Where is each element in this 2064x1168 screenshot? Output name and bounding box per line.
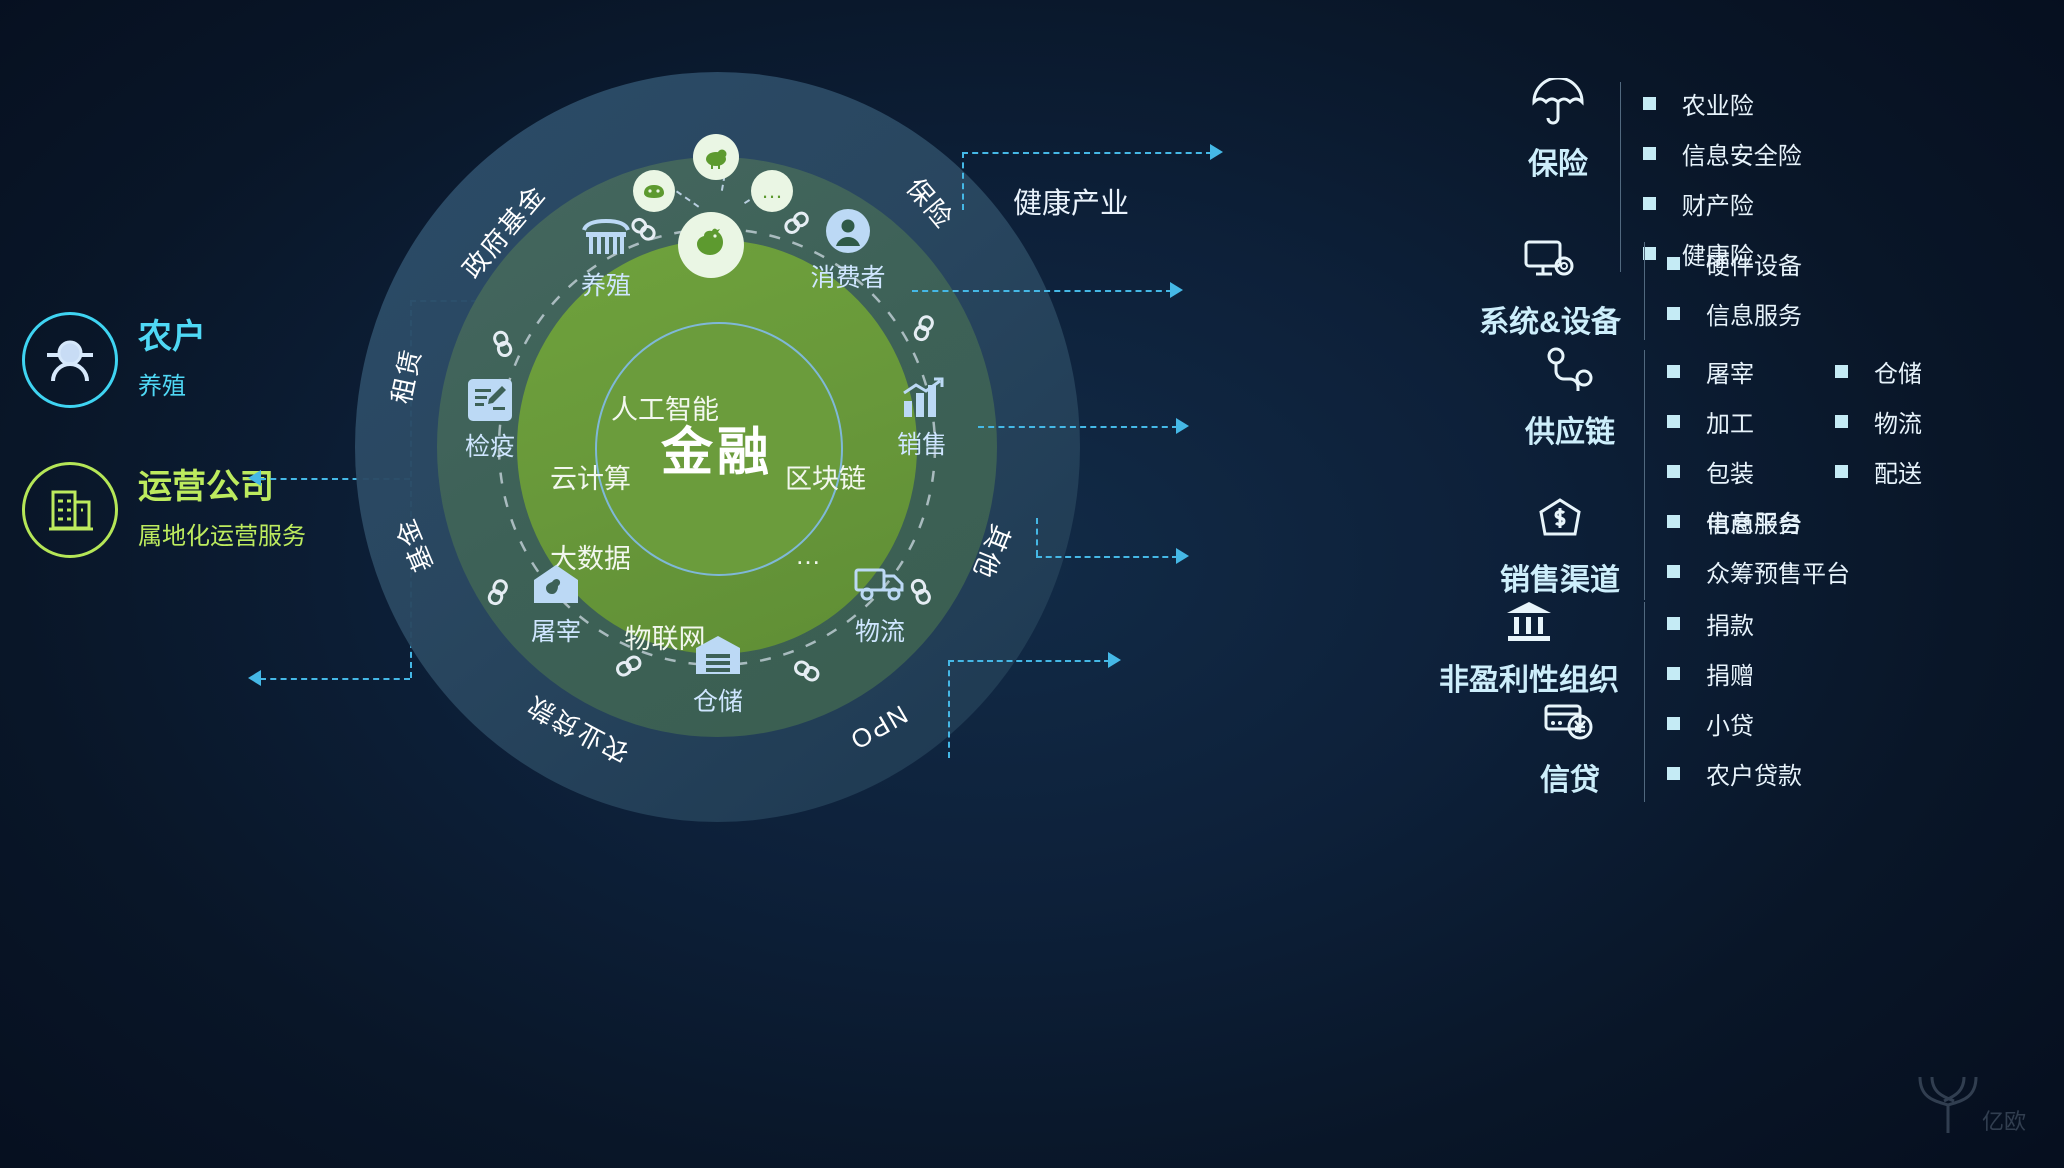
category-title: 非盈利性组织 [1439,655,1619,699]
category-title: 系统&设备 [1479,297,1621,341]
node-label: 检疫 [465,433,515,461]
chart-up-icon [896,375,948,421]
bullet-icon [1643,97,1656,110]
watermark-logo: 亿欧 [1910,1067,2038,1148]
category-title: 信贷 [1540,755,1600,799]
category-credit[interactable]: 信贷 小贷 农户贷款 [1500,698,1889,806]
node-storage[interactable]: 仓储 [663,632,773,718]
actor-subtitle: 养殖 [138,366,206,401]
bullet-icon [1667,415,1680,428]
chain-node-icon [1543,346,1597,401]
bullet-icon [1835,365,1848,378]
node-slaughter[interactable]: 屠宰 [501,562,611,648]
syringe-icon [464,377,516,423]
list-item[interactable]: 小贷 [1667,706,1889,741]
list-item[interactable]: 硬件设备 [1667,246,1937,281]
ecosystem-diagram: 金融 人工智能 云计算 区块链 大数据 … 物联网 政府基金 租赁 基金 农业贷… [355,72,1080,822]
bullet-icon [1643,147,1656,160]
slaughter-house-icon [530,562,582,608]
bullet-icon [1667,667,1680,680]
bullet-icon [1667,465,1680,478]
list-item[interactable]: 仓储 [1835,354,2003,389]
category-title: 保险 [1528,139,1588,183]
actor-subtitle: 属地化运营服务 [138,516,306,551]
node-quarantine[interactable]: 检疫 [435,377,545,463]
category-title: 销售渠道 [1500,555,1620,599]
list-item[interactable]: 屠宰 [1667,354,1835,389]
node-label: 仓储 [693,688,743,716]
list-item[interactable]: 信息服务 [1667,296,1937,331]
building-icon [22,462,118,558]
user-icon [822,208,874,254]
bullet-icon [1643,197,1656,210]
money-bag-icon [1533,496,1587,549]
node-logistics[interactable]: 物流 [825,562,935,648]
bullet-icon [1667,257,1680,270]
bullet-icon [1835,415,1848,428]
truck-icon [854,562,906,608]
livestock-bubble-sheep [693,134,739,180]
list-item[interactable]: 电商平台 [1667,504,1985,539]
card-yen-icon [1542,698,1598,749]
list-item[interactable]: 财产险 [1643,186,2050,221]
category-npo[interactable]: 非盈利性组织 捐款 捐赠 [1418,598,1841,706]
livestock-bubble-cow [633,170,675,212]
node-label: 养殖 [581,272,631,300]
category-title: 供应链 [1525,407,1615,451]
node-label: 消费者 [810,264,885,292]
farm-fence-icon [580,216,632,262]
bullet-icon [1667,565,1680,578]
list-item[interactable]: 配送 [1835,454,2003,489]
list-item[interactable]: 农业险 [1643,86,1754,121]
bullet-icon [1667,365,1680,378]
list-item[interactable]: 农户贷款 [1667,756,1889,791]
node-label: 销售 [897,431,947,459]
bank-icon [1501,598,1557,649]
category-sales-channel[interactable]: 销售渠道 电商平台 众筹预售平台 [1480,496,1985,604]
bullet-icon [1835,465,1848,478]
list-item[interactable]: 捐款 [1667,606,1841,641]
bullet-icon [1667,617,1680,630]
node-breeding[interactable]: 养殖 [551,216,661,302]
bullet-icon [1667,307,1680,320]
list-item[interactable]: 包装 [1667,454,1835,489]
monitor-gear-icon [1522,238,1578,291]
farmer-icon [22,312,118,408]
node-consumer[interactable]: 消费者 [793,208,903,294]
category-system[interactable]: 系统&设备 硬件设备 信息服务 [1460,238,1937,346]
list-item[interactable]: 信息安全险 [1643,136,2050,171]
node-label: 屠宰 [531,618,581,646]
umbrella-icon [1530,78,1586,133]
warehouse-icon [692,632,744,678]
list-item[interactable]: 物流 [1835,404,2003,439]
list-item[interactable]: 捐赠 [1667,656,1841,691]
livestock-bubble-more: … [751,170,793,212]
actor-title: 运营公司 [138,469,306,506]
bullet-icon [1667,515,1680,528]
node-label: 物流 [855,618,905,646]
list-item[interactable]: 加工 [1667,404,1835,439]
node-sales[interactable]: 销售 [867,375,977,461]
health-industry-title: 健康产业 [1013,180,1129,222]
actor-operating-company[interactable]: 运营公司 属地化运营服务 [22,462,306,558]
list-item[interactable]: 众筹预售平台 [1667,554,1985,589]
actor-title: 农户 [138,319,206,356]
livestock-bubble-chicken [678,212,744,278]
actor-farmer[interactable]: 农户 养殖 [22,312,206,408]
bullet-icon [1667,717,1680,730]
watermark-text: 亿欧 [1982,1109,2026,1134]
bullet-icon [1667,767,1680,780]
